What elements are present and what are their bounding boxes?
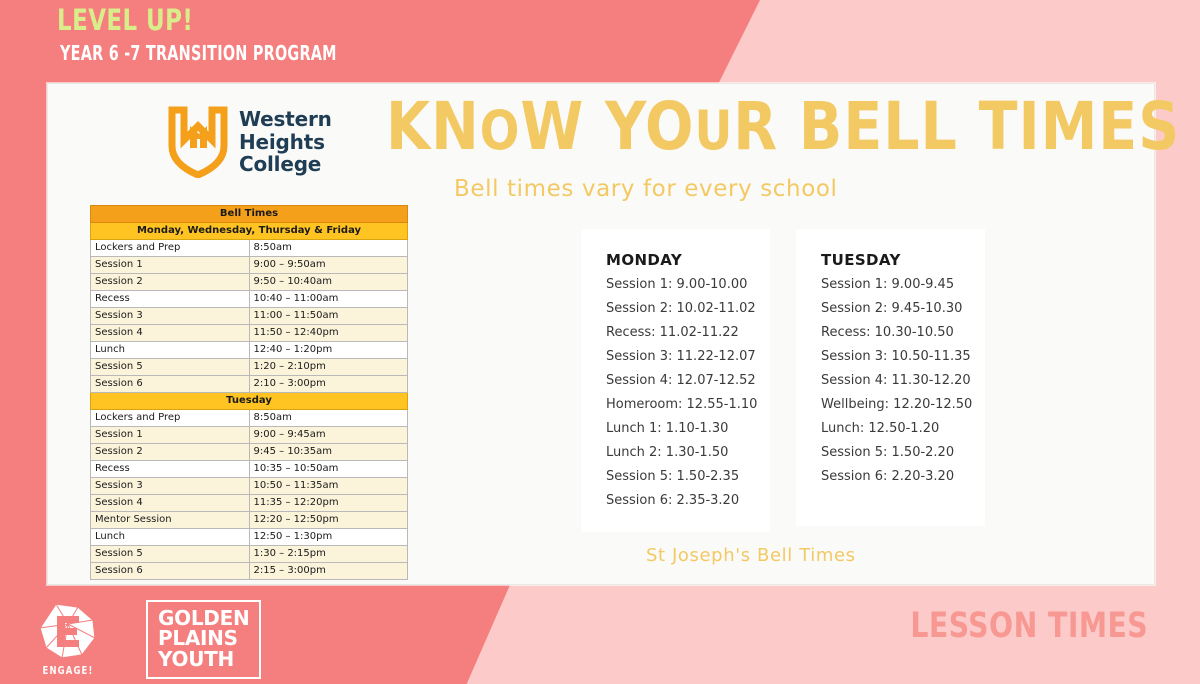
row-label: Session 1 xyxy=(91,427,250,444)
row-time: 11:00 – 11:50am xyxy=(249,308,408,325)
row-label: Recess xyxy=(91,461,250,478)
title-part-3: W YO xyxy=(520,88,694,165)
tuesday-session-list: Session 1: 9.00-9.45 Session 2: 9.45-10.… xyxy=(821,278,985,483)
table-row: Session 6 2:15 – 3:00pm xyxy=(91,563,408,580)
panel-caption: St Joseph's Bell Times xyxy=(646,545,856,566)
table-row: Session 4 11:50 – 12:40pm xyxy=(91,325,408,342)
row-time: 10:40 – 11:00am xyxy=(249,291,408,308)
row-label: Lockers and Prep xyxy=(91,240,250,257)
row-time: 9:50 – 10:40am xyxy=(249,274,408,291)
row-time: 12:40 – 1:20pm xyxy=(249,342,408,359)
title-part-1: KN xyxy=(386,88,480,165)
logo-line-2: Heights xyxy=(239,131,332,154)
row-time: 9:45 – 10:35am xyxy=(249,444,408,461)
bell-times-table-wrapper: Bell Times Monday, Wednesday, Thursday &… xyxy=(90,205,408,580)
day-panel-tuesday: TUESDAY Session 1: 9.00-9.45 Session 2: … xyxy=(796,229,985,526)
list-item: Lunch 1: 1.10-1.30 xyxy=(606,422,770,435)
row-time: 9:00 – 9:45am xyxy=(249,427,408,444)
list-item: Session 2: 10.02-11.02 xyxy=(606,302,770,315)
slide-root: LEVEL UP! YEAR 6 -7 TRANSITION PROGRAM W… xyxy=(0,0,1200,684)
list-item: Session 3: 11.22-12.07 xyxy=(606,350,770,363)
bell-times-table: Bell Times Monday, Wednesday, Thursday &… xyxy=(90,205,408,580)
row-label: Lunch xyxy=(91,342,250,359)
row-label: Session 6 xyxy=(91,563,250,580)
list-item: Session 4: 11.30-12.20 xyxy=(821,374,985,387)
title-part-5: R BELL TIMES xyxy=(733,88,1180,165)
gpy-line-3: YOUTH xyxy=(158,649,249,669)
list-item: Session 5: 1.50-2.20 xyxy=(821,446,985,459)
row-time: 11:35 – 12:20pm xyxy=(249,495,408,512)
table-row: Session 1 9:00 – 9:45am xyxy=(91,427,408,444)
background-salmon-left-band xyxy=(0,84,48,586)
row-label: Session 3 xyxy=(91,308,250,325)
monday-heading: MONDAY xyxy=(606,251,770,269)
table-row: Session 4 11:35 – 12:20pm xyxy=(91,495,408,512)
footer-logos: ENGAGE! GOLDEN PLAINS YOUTH xyxy=(38,600,261,679)
row-label: Mentor Session xyxy=(91,512,250,529)
row-time: 2:15 – 3:00pm xyxy=(249,563,408,580)
list-item: Session 1: 9.00-9.45 xyxy=(821,278,985,291)
gpy-line-1: GOLDEN xyxy=(158,608,249,628)
row-time: 1:20 – 2:10pm xyxy=(249,359,408,376)
row-label: Session 4 xyxy=(91,325,250,342)
section2-header-cell: Tuesday xyxy=(91,393,408,410)
gpy-line-2: PLAINS xyxy=(158,628,249,648)
table-row: Session 3 10:50 – 11:35am xyxy=(91,478,408,495)
logo-line-3: College xyxy=(239,153,332,176)
engage-logo: ENGAGE! xyxy=(38,602,98,677)
row-time: 10:35 – 10:50am xyxy=(249,461,408,478)
bell-times-table-body: Bell Times Monday, Wednesday, Thursday &… xyxy=(91,206,408,580)
program-title: LEVEL UP! xyxy=(57,6,364,35)
lesson-times-label: LESSON TIMES xyxy=(910,606,1148,646)
list-item: Session 1: 9.00-10.00 xyxy=(606,278,770,291)
table-row: Session 5 1:20 – 2:10pm xyxy=(91,359,408,376)
table-row: Session 3 11:00 – 11:50am xyxy=(91,308,408,325)
list-item: Homeroom: 12.55-1.10 xyxy=(606,398,770,411)
row-time: 12:50 – 1:30pm xyxy=(249,529,408,546)
engage-wordmark: ENGAGE! xyxy=(43,664,94,677)
row-time: 2:10 – 3:00pm xyxy=(249,376,408,393)
list-item: Recess: 10.30-10.50 xyxy=(821,326,985,339)
college-logo: Western Heights College xyxy=(168,106,332,178)
table-row: Mentor Session 12:20 – 12:50pm xyxy=(91,512,408,529)
list-item: Lunch 2: 1.30-1.50 xyxy=(606,446,770,459)
monday-session-list: Session 1: 9.00-10.00 Session 2: 10.02-1… xyxy=(606,278,770,507)
row-label: Session 5 xyxy=(91,359,250,376)
row-label: Recess xyxy=(91,291,250,308)
program-subtitle: YEAR 6 -7 TRANSITION PROGRAM xyxy=(60,43,337,63)
list-item: Recess: 11.02-11.22 xyxy=(606,326,770,339)
title-part-4: U xyxy=(694,99,733,162)
shield-icon xyxy=(168,106,228,178)
content-card: Western Heights College KNOW YOUR BELL T… xyxy=(47,83,1155,585)
list-item: Lunch: 12.50-1.20 xyxy=(821,422,985,435)
list-item: Session 2: 9.45-10.30 xyxy=(821,302,985,315)
table-row: Session 1 9:00 – 9:50am xyxy=(91,257,408,274)
section1-header-cell: Monday, Wednesday, Thursday & Friday xyxy=(91,223,408,240)
monday-panel-inner: MONDAY Session 1: 9.00-10.00 Session 2: … xyxy=(581,229,770,507)
list-item: Session 4: 12.07-12.52 xyxy=(606,374,770,387)
list-item: Session 5: 1.50-2.35 xyxy=(606,470,770,483)
engage-icon xyxy=(38,602,98,660)
golden-plains-youth-logo: GOLDEN PLAINS YOUTH xyxy=(146,600,261,679)
table-row: Session 2 9:50 – 10:40am xyxy=(91,274,408,291)
row-time: 12:20 – 12:50pm xyxy=(249,512,408,529)
header-block: LEVEL UP! YEAR 6 -7 TRANSITION PROGRAM xyxy=(57,6,406,63)
page-subtitle: Bell times vary for every school xyxy=(454,176,838,202)
row-time: 9:00 – 9:50am xyxy=(249,257,408,274)
table-row: Session 5 1:30 – 2:15pm xyxy=(91,546,408,563)
row-time: 8:50am xyxy=(249,240,408,257)
college-logo-text: Western Heights College xyxy=(239,108,332,176)
tuesday-panel-inner: TUESDAY Session 1: 9.00-9.45 Session 2: … xyxy=(796,229,985,483)
table-header-cell: Bell Times xyxy=(91,206,408,223)
list-item: Session 6: 2.20-3.20 xyxy=(821,470,985,483)
table-section-header-1: Monday, Wednesday, Thursday & Friday xyxy=(91,223,408,240)
row-label: Session 4 xyxy=(91,495,250,512)
row-time: 10:50 – 11:35am xyxy=(249,478,408,495)
tuesday-heading: TUESDAY xyxy=(821,251,985,269)
row-label: Session 2 xyxy=(91,274,250,291)
table-row: Recess 10:35 – 10:50am xyxy=(91,461,408,478)
table-section-header-2: Tuesday xyxy=(91,393,408,410)
row-time: 8:50am xyxy=(249,410,408,427)
table-row: Lunch 12:40 – 1:20pm xyxy=(91,342,408,359)
day-panel-monday: MONDAY Session 1: 9.00-10.00 Session 2: … xyxy=(581,229,770,532)
row-label: Session 5 xyxy=(91,546,250,563)
row-label: Session 3 xyxy=(91,478,250,495)
logo-line-1: Western xyxy=(239,108,332,131)
row-label: Session 6 xyxy=(91,376,250,393)
list-item: Session 3: 10.50-11.35 xyxy=(821,350,985,363)
row-label: Lockers and Prep xyxy=(91,410,250,427)
table-row: Lunch 12:50 – 1:30pm xyxy=(91,529,408,546)
table-header-row: Bell Times xyxy=(91,206,408,223)
table-row: Lockers and Prep 8:50am xyxy=(91,240,408,257)
table-row: Session 2 9:45 – 10:35am xyxy=(91,444,408,461)
list-item: Session 6: 2.35-3.20 xyxy=(606,494,770,507)
row-label: Session 2 xyxy=(91,444,250,461)
row-label: Session 1 xyxy=(91,257,250,274)
row-time: 11:50 – 12:40pm xyxy=(249,325,408,342)
table-row: Session 6 2:10 – 3:00pm xyxy=(91,376,408,393)
page-title: KNOW YOUR BELL TIMES xyxy=(386,94,1116,160)
row-time: 1:30 – 2:15pm xyxy=(249,546,408,563)
table-row: Recess 10:40 – 11:00am xyxy=(91,291,408,308)
table-row: Lockers and Prep 8:50am xyxy=(91,410,408,427)
list-item: Wellbeing: 12.20-12.50 xyxy=(821,398,985,411)
row-label: Lunch xyxy=(91,529,250,546)
title-part-2: O xyxy=(480,99,521,162)
